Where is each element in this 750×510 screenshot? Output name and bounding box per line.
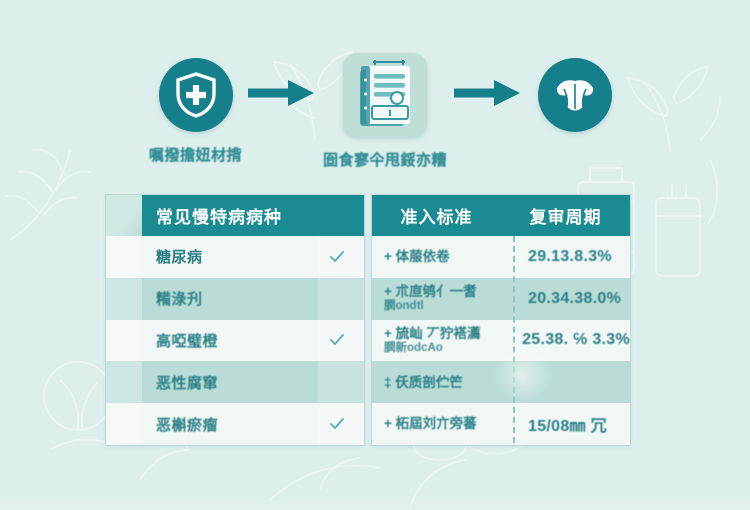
- disease-column-title: 常见慢特病病种: [142, 203, 282, 228]
- table-row[interactable]: 糖尿病: [106, 236, 364, 278]
- table-row[interactable]: + 朮㡺鸲亻一耆 膶ondtl 20.34.38.0%: [372, 278, 630, 320]
- review-cycle-cell: 29.13.8.3%: [514, 248, 630, 266]
- criteria-table-header: 准入标准 复审周期: [372, 195, 630, 236]
- criteria-cell: ‡ 仸质剖伫笀: [372, 375, 514, 391]
- criteria-cell: + 旈屾 丆狞褡瀳 膶新odcAo: [372, 326, 508, 355]
- table-row[interactable]: + 旈屾 丆狞褡瀳 膶新odcAo 25.38. ℅ 3.3%: [372, 320, 630, 362]
- flow-step-2-caption: 囼食寥仐甩鋖亦糟: [300, 149, 470, 170]
- column-divider: [513, 236, 515, 443]
- disease-name: 糖尿病: [106, 246, 203, 267]
- table-row[interactable]: ‡ 仸质剖伫笀: [372, 361, 630, 403]
- criteria-text: + 柘屆刘亣旁蕃: [384, 416, 477, 431]
- criteria-text: ‡ 仸质剖伫笀: [384, 375, 463, 390]
- table-row[interactable]: 恶性腐窜: [106, 361, 364, 403]
- criteria-cell: + 朮㡺鸲亻一耆 膶ondtl: [372, 284, 514, 313]
- organ-circle-icon: [551, 75, 599, 115]
- criteria-subtext: 膶ondtl: [384, 300, 514, 313]
- shield-cross-badge: [159, 58, 233, 132]
- clipboard-document-icon: [353, 58, 417, 132]
- process-flow: 嘱撥擔妞材揹: [0, 48, 750, 178]
- table-row[interactable]: + 柘屆刘亣旁蕃 15/08㎜ 冗: [372, 403, 630, 445]
- check-icon[interactable]: [328, 248, 346, 266]
- organ-circle-badge: [538, 58, 612, 132]
- disease-table-header: 常见慢特病病种: [106, 195, 364, 236]
- flow-step-3: [500, 58, 650, 144]
- table-row[interactable]: 糒淥刋: [106, 278, 364, 320]
- review-cycle-cell: 25.38. ℅ 3.3%: [508, 331, 630, 349]
- header-corner-block: [106, 195, 142, 236]
- table-row[interactable]: + 体菔依卷 29.13.8.3%: [372, 236, 630, 278]
- flow-step-2: 囼食寥仐甩鋖亦糟: [300, 53, 470, 170]
- criteria-text: + 旈屾 丆狞褡瀳: [384, 326, 480, 341]
- table-row[interactable]: 恶槲瘀瘤: [106, 403, 364, 445]
- criteria-table-panel: 准入标准 复审周期 + 体菔依卷 29.13.8.3% + 朮㡺鸲亻一耆 膶on…: [371, 194, 631, 446]
- criteria-cell: + 体菔依卷: [372, 249, 514, 265]
- disease-name: 恶性腐窜: [106, 372, 218, 393]
- criteria-text: + 朮㡺鸲亻一耆: [384, 284, 477, 299]
- disease-name: 糒淥刋: [106, 288, 203, 309]
- criteria-column-title: 准入标准: [401, 203, 473, 228]
- disease-name: 恶槲瘀瘤: [106, 414, 218, 435]
- criteria-cell: + 柘屆刘亣旁蕃: [372, 416, 514, 432]
- flow-step-1: 嘱撥擔妞材揹: [118, 58, 273, 165]
- disease-table-panel: 常见慢特病病种 糖尿病 糒淥刋 高啞璧橙 恶性腐窜 恶槲瘀瘤: [105, 194, 365, 446]
- flow-step-1-caption: 嘱撥擔妞材揹: [118, 144, 273, 165]
- check-icon[interactable]: [328, 415, 346, 433]
- table-row[interactable]: 高啞璧橙: [106, 320, 364, 362]
- criteria-text: + 体菔依卷: [384, 249, 450, 264]
- poster-canvas: 嘱撥擔妞材揹: [0, 0, 750, 500]
- review-cycle-cell: 20.34.38.0%: [514, 290, 630, 308]
- criteria-subtext: 膶新odcAo: [384, 342, 508, 355]
- check-icon[interactable]: [328, 331, 346, 349]
- clipboard-document-badge: [343, 53, 427, 137]
- review-cycle-column-title: 复审周期: [530, 203, 602, 228]
- disease-name: 高啞璧橙: [106, 330, 218, 351]
- review-cycle-cell: 15/08㎜ 冗: [514, 412, 630, 436]
- shield-cross-icon: [175, 72, 217, 118]
